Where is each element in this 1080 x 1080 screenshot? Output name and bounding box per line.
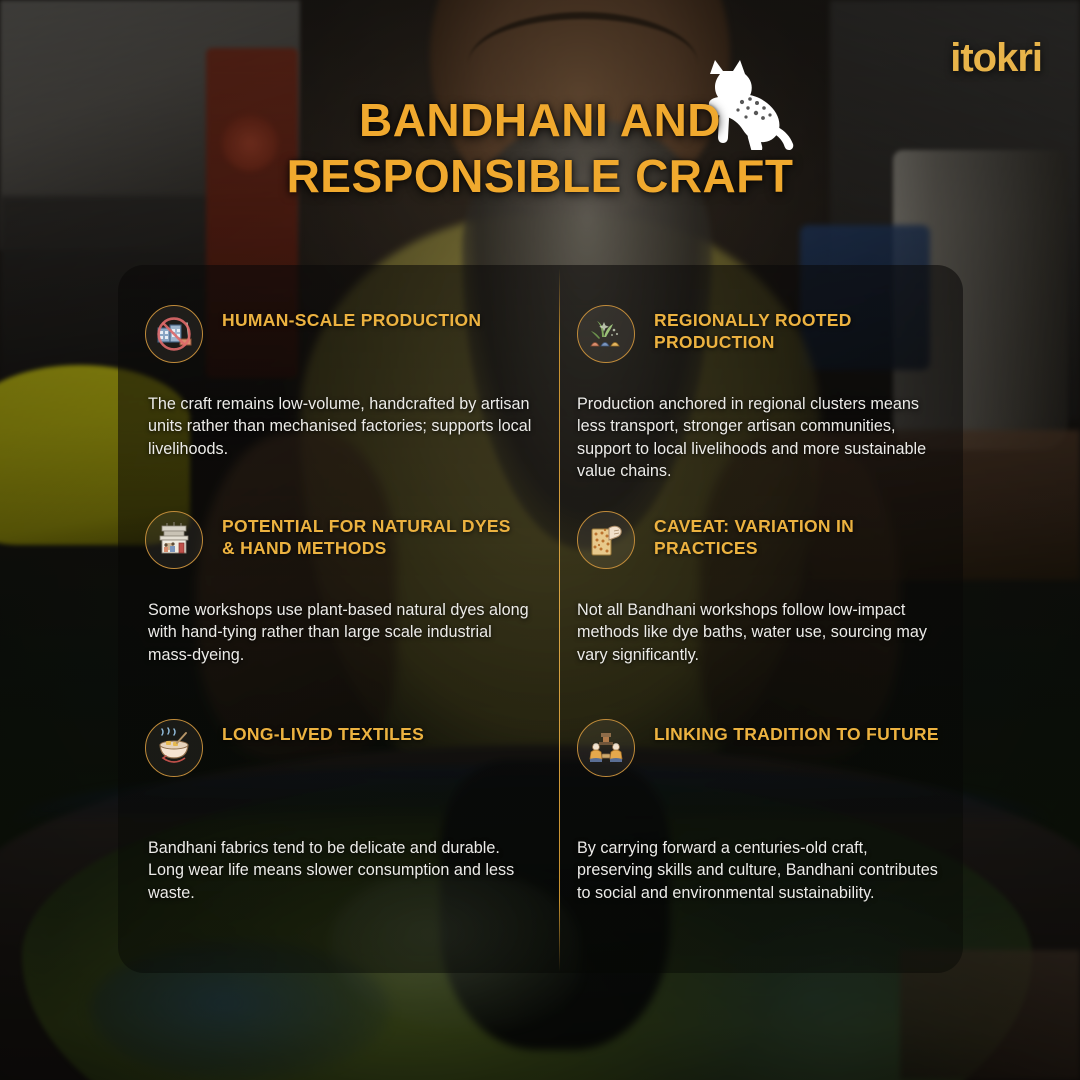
card-header: LINKING TRADITION TO FUTURE [577, 719, 945, 777]
no-factory-icon [145, 305, 203, 363]
card-body: By carrying forward a centuries-old craf… [577, 837, 945, 904]
hand-holding-fabric-icon [577, 511, 635, 569]
card-header: LONG-LIVED TEXTILES [145, 719, 537, 777]
card-title: REGIONALLY ROOTED PRODUCTION [654, 305, 939, 354]
card-body: Not all Bandhani workshops follow low-im… [577, 599, 945, 666]
page-title: BANDHANI AND RESPONSIBLE CRAFT [0, 92, 1080, 204]
card-body: The craft remains low-volume, handcrafte… [145, 393, 537, 460]
title-line-1: BANDHANI AND [0, 92, 1080, 148]
steaming-dye-pot-icon [145, 719, 203, 777]
card-long-lived-textiles: LONG-LIVED TEXTILES Bandhani fabrics ten… [118, 679, 559, 973]
card-body: Bandhani fabrics tend to be delicate and… [145, 837, 537, 904]
card-title: LINKING TRADITION TO FUTURE [654, 719, 939, 745]
title-line-2: RESPONSIBLE CRAFT [0, 148, 1080, 204]
card-caveat-variation-in-practices: CAVEAT: VARIATION IN PRACTICES Not all B… [559, 471, 963, 679]
artisan-workshop-icon [145, 511, 203, 569]
sprouting-plants-icon [577, 305, 635, 363]
card-title: POTENTIAL FOR NATURAL DYES & HAND METHOD… [222, 511, 522, 560]
card-header: HUMAN-SCALE PRODUCTION [145, 305, 537, 363]
card-natural-dyes-hand-methods: POTENTIAL FOR NATURAL DYES & HAND METHOD… [118, 471, 559, 679]
header: itokri [0, 0, 1080, 265]
card-title: LONG-LIVED TEXTILES [222, 719, 424, 745]
card-regionally-rooted-production: REGIONALLY ROOTED PRODUCTION Production … [559, 265, 963, 471]
card-title: CAVEAT: VARIATION IN PRACTICES [654, 511, 939, 560]
cards-grid: HUMAN-SCALE PRODUCTION The craft remains… [118, 265, 963, 973]
card-human-scale-production: HUMAN-SCALE PRODUCTION The craft remains… [118, 265, 559, 471]
brand-logo[interactable]: itokri [950, 36, 1042, 81]
card-title: HUMAN-SCALE PRODUCTION [222, 305, 481, 331]
card-linking-tradition-to-future: LINKING TRADITION TO FUTURE By carrying … [559, 679, 963, 973]
card-header: CAVEAT: VARIATION IN PRACTICES [577, 511, 945, 569]
card-header: POTENTIAL FOR NATURAL DYES & HAND METHOD… [145, 511, 537, 569]
card-body: Production anchored in regional clusters… [577, 393, 945, 482]
two-artisans-icon [577, 719, 635, 777]
card-header: REGIONALLY ROOTED PRODUCTION [577, 305, 945, 363]
card-body: Some workshops use plant-based natural d… [145, 599, 537, 666]
